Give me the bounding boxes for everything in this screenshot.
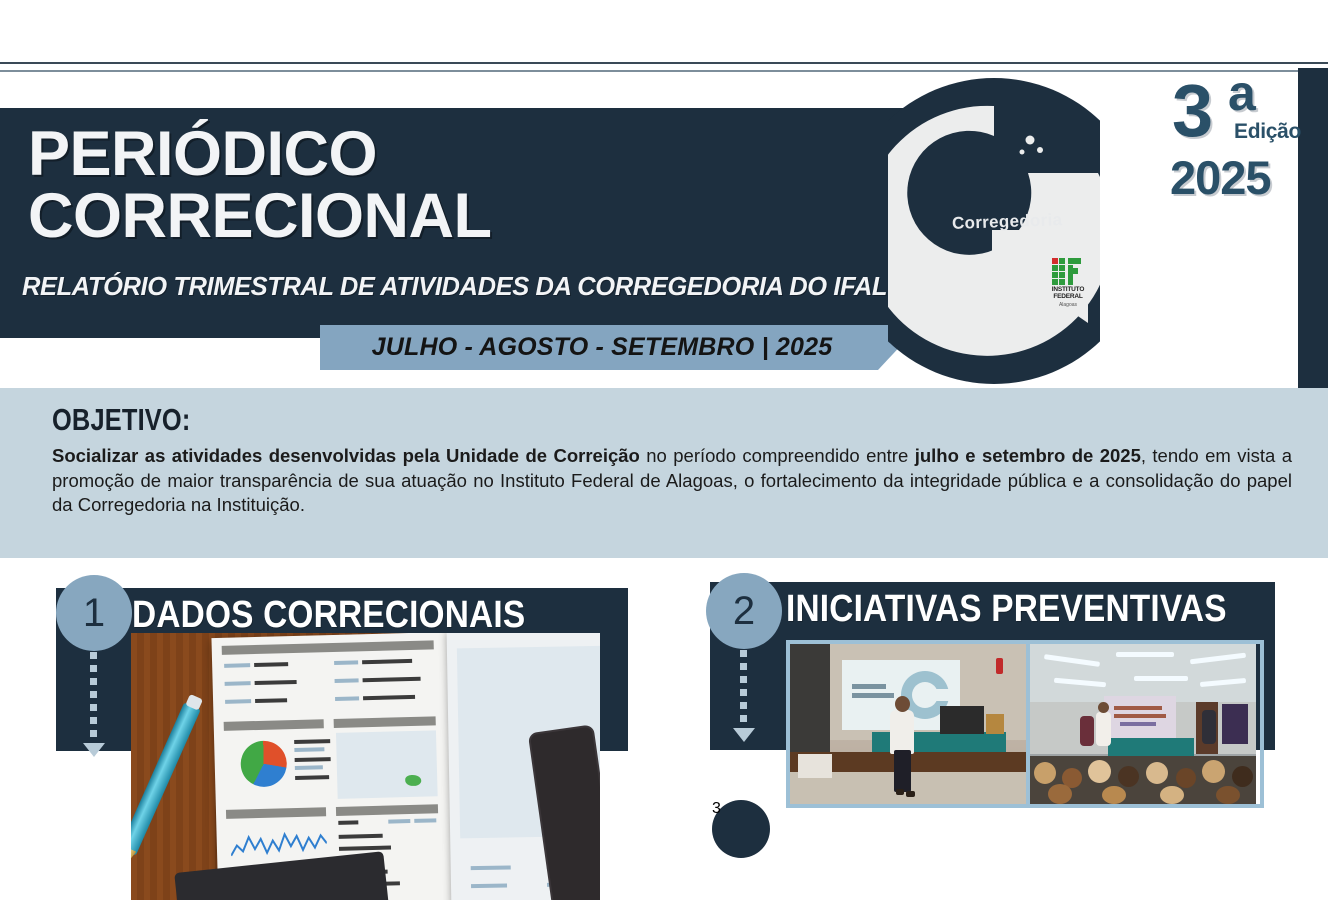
ifal-grid-icon [1052,258,1084,284]
section-1-number-circle: 1 [56,575,132,651]
title-line-2: CORRECIONAL [28,186,888,248]
objetivo-heading: OBJETIVO: [52,402,1066,438]
header-block: PERIÓDICO CORRECIONAL RELATÓRIO TRIMESTR… [0,108,930,338]
objetivo-bold-1: Socializar as atividades desenvolvidas p… [52,445,640,466]
objetivo-body: Socializar as atividades desenvolvidas p… [52,444,1292,518]
section-2-label: INICIATIVAS PREVENTIVAS [786,588,1227,631]
objetivo-block: OBJETIVO: Socializar as atividades desen… [0,388,1328,558]
section-2-number: 2 [733,589,755,634]
section-3-number-circle: 3 [712,800,770,858]
ifal-institute-name: INSTITUTO FEDERAL [1040,287,1096,301]
page-subtitle: RELATÓRIO TRIMESTRAL DE ATIVIDADES DA CO… [22,273,902,302]
ifal-logo: INSTITUTO FEDERAL Alagoas [1040,258,1096,320]
edition-badge: 3 a Edição 2025 [1168,82,1298,202]
section-1-label: DADOS CORRECIONAIS [132,594,525,637]
section-1-number: 1 [83,591,105,636]
page-title: PERIÓDICO CORRECIONAL [28,124,888,247]
period-banner-label: JULHO - AGOSTO - SETEMBRO | 2025 [372,333,833,362]
period-banner: JULHO - AGOSTO - SETEMBRO | 2025 [320,325,920,370]
photo-speaker-auditorium [790,644,1026,804]
section-2-dotted-arrow [740,650,748,742]
corregedoria-wordmark: Corregedoria [952,210,1063,234]
ifal-campus: Alagoas [1040,302,1096,308]
top-rule-light [0,70,1328,72]
periodico-page: PERIÓDICO CORRECIONAL RELATÓRIO TRIMESTR… [0,0,1328,900]
section-1-dotted-arrow [90,652,98,757]
chevron-down-icon [83,743,105,757]
top-rule-dark [0,62,1328,64]
edition-ordinal: a [1228,68,1256,118]
section-2-number-circle: 2 [706,573,782,649]
section-3-number: 3 [712,800,721,817]
edition-label: Edição [1234,120,1301,144]
ifal-line-2: FEDERAL [1053,293,1082,300]
edition-number: 3 [1172,74,1213,148]
section-1-photo-analytics-report [131,633,600,900]
objetivo-text-1: no período compreendido entre [640,445,915,466]
chevron-down-icon [733,728,755,742]
edition-year: 2025 [1170,154,1271,201]
objetivo-bold-2: julho e setembro de 2025 [915,445,1141,466]
title-line-1: PERIÓDICO [28,119,377,189]
photo-audience-auditorium [1026,644,1256,804]
section-2-photos [786,640,1264,808]
